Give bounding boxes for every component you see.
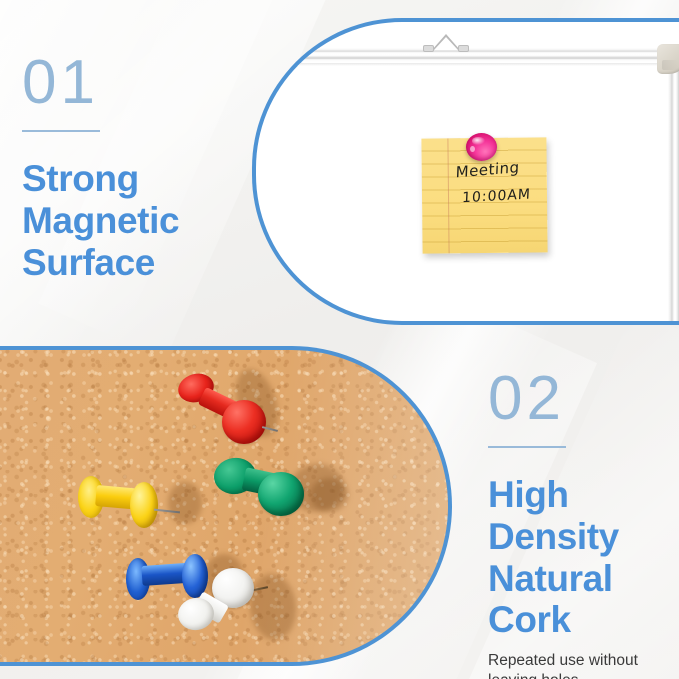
feature-title-02: High Density Natural Cork: [488, 474, 673, 641]
sticky-note-line-2: 10:00AM: [462, 186, 532, 206]
sticky-note-line-1: Meeting: [455, 158, 520, 181]
feature-divider-01: [22, 130, 100, 132]
round-magnet-icon: [466, 133, 497, 161]
product-infographic: 01 Strong Magnetic Surface Meeting 10:00…: [0, 0, 679, 679]
green-pushpin: [214, 452, 344, 532]
white-pushpin: [178, 568, 298, 650]
red-pushpin: [178, 362, 293, 457]
whiteboard-panel: Meeting 10:00AM: [252, 18, 679, 325]
feature-divider-02: [488, 446, 566, 448]
whiteboard-top-frame-rail: [284, 48, 679, 62]
feature-block-02: 02 High Density Natural Cork Repeated us…: [488, 368, 673, 679]
feature-block-01: 01 Strong Magnetic Surface: [22, 52, 247, 283]
feature-number-01: 01: [22, 52, 247, 114]
whiteboard-hanging-hook-icon: [432, 34, 460, 50]
whiteboard-corner-cap: [657, 44, 679, 74]
sticky-note-text: Meeting 10:00AM: [456, 161, 541, 206]
feature-title-01: Strong Magnetic Surface: [22, 158, 247, 283]
feature-number-02: 02: [488, 368, 673, 430]
yellow-pushpin: [78, 476, 196, 534]
whiteboard-right-frame-rail: [668, 52, 679, 321]
feature-subtitle-02: Repeated use without leaving holes: [488, 651, 673, 679]
